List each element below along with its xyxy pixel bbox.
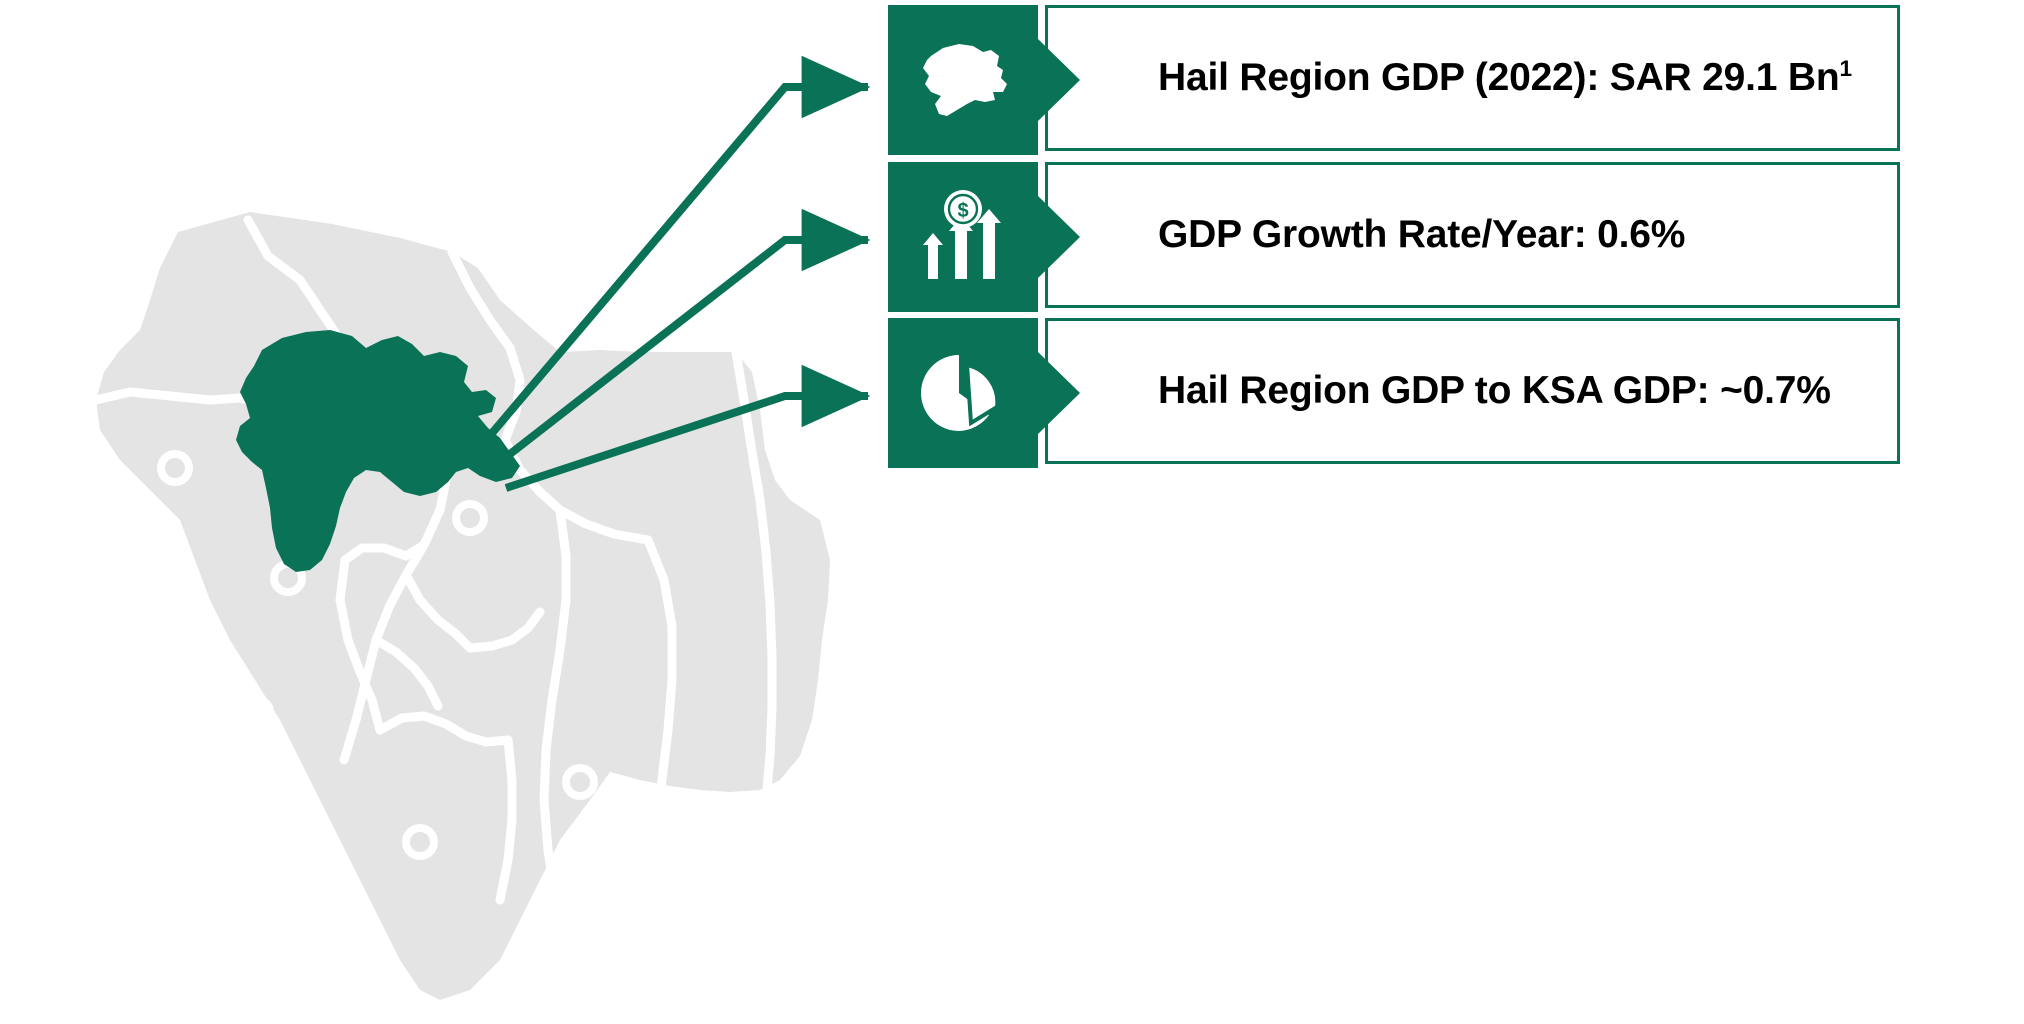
info-label-3-text: Hail Region GDP to KSA GDP: ~0.7%	[1158, 369, 1831, 412]
info-rows-container: Hail Region GDP (2022): SAR 29.1 Bn1 $	[888, 5, 1908, 475]
icon-box-2: $	[888, 162, 1038, 312]
info-row-gdp-total[interactable]: Hail Region GDP (2022): SAR 29.1 Bn1	[888, 5, 1905, 155]
pie-chart-icon	[915, 345, 1011, 441]
info-label-2-text: GDP Growth Rate/Year: 0.6%	[1158, 213, 1685, 256]
info-label-3: Hail Region GDP to KSA GDP: ~0.7%	[1158, 369, 1831, 413]
text-box-1: Hail Region GDP (2022): SAR 29.1 Bn1	[1045, 5, 1900, 151]
icon-box-1	[888, 5, 1038, 155]
text-box-2: GDP Growth Rate/Year: 0.6%	[1045, 162, 1900, 308]
chevron-right-icon-1	[1038, 39, 1080, 121]
info-row-gdp-growth[interactable]: $ GDP Growth Rate/Year: 0.6%	[888, 162, 1905, 312]
icon-box-3	[888, 318, 1038, 468]
info-label-1-text: Hail Region GDP (2022): SAR 29.1 Bn	[1158, 56, 1839, 99]
chevron-right-icon-2	[1038, 196, 1080, 278]
text-box-3: Hail Region GDP to KSA GDP: ~0.7%	[1045, 318, 1900, 464]
info-label-1: Hail Region GDP (2022): SAR 29.1 Bn1	[1158, 56, 1852, 100]
svg-text:$: $	[957, 200, 968, 222]
hail-region-map-icon	[915, 34, 1011, 126]
chevron-right-icon-3	[1038, 352, 1080, 434]
info-row-gdp-share[interactable]: Hail Region GDP to KSA GDP: ~0.7%	[888, 318, 1905, 468]
saudi-arabia-map	[0, 0, 1010, 1024]
info-label-1-superscript: 1	[1839, 56, 1851, 81]
info-label-2: GDP Growth Rate/Year: 0.6%	[1158, 213, 1685, 257]
growth-arrows-dollar-icon: $	[913, 189, 1013, 285]
map-panel	[0, 0, 1010, 1024]
map-landmass	[96, 212, 830, 1000]
